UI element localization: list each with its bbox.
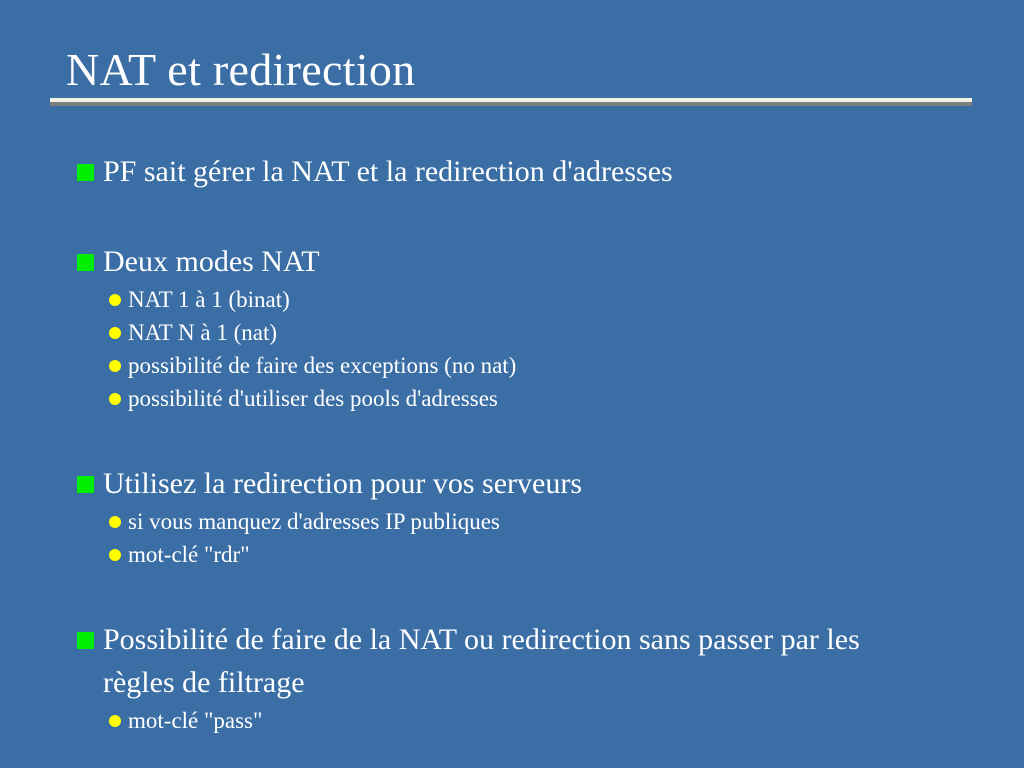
outline-spacer bbox=[58, 193, 988, 240]
list-item-level2-label: possibilité d'utiliser des pools d'adres… bbox=[128, 382, 498, 415]
list-item-level2-label: possibilité de faire des exceptions (no … bbox=[128, 349, 516, 382]
list-item-level2: NAT 1 à 1 (binat) bbox=[58, 283, 988, 316]
list-item-level2-label: NAT 1 à 1 (binat) bbox=[128, 283, 290, 316]
list-item-level1-label: Utilisez la redirection pour vos serveur… bbox=[103, 462, 582, 505]
list-item-level1-label: Possibilité de faire de la NAT ou redire… bbox=[103, 618, 903, 704]
list-item-level2-label: si vous manquez d'adresses IP publiques bbox=[128, 505, 500, 538]
list-item-level2-label: NAT N à 1 (nat) bbox=[128, 316, 277, 349]
slide-outline-body: PF sait gérer la NAT et la redirection d… bbox=[58, 150, 988, 737]
list-item-level2: possibilité d'utiliser des pools d'adres… bbox=[58, 382, 988, 415]
list-item-level1: PF sait gérer la NAT et la redirection d… bbox=[58, 150, 988, 193]
list-item-level1: Possibilité de faire de la NAT ou redire… bbox=[58, 618, 988, 704]
list-item-level1-label: PF sait gérer la NAT et la redirection d… bbox=[103, 150, 673, 193]
green-square-bullet-icon bbox=[77, 164, 94, 181]
list-item-level2: mot-clé "rdr" bbox=[58, 538, 988, 571]
list-item-level2-label: mot-clé "rdr" bbox=[128, 538, 250, 571]
outline-group: Utilisez la redirection pour vos serveur… bbox=[58, 462, 988, 571]
outline-group: PF sait gérer la NAT et la redirection d… bbox=[58, 150, 988, 193]
slide-title-block: NAT et redirection bbox=[50, 44, 974, 106]
list-item-level2: NAT N à 1 (nat) bbox=[58, 316, 988, 349]
yellow-dot-bullet-icon bbox=[109, 715, 121, 727]
list-item-level2: si vous manquez d'adresses IP publiques bbox=[58, 505, 988, 538]
list-item-level2-label: mot-clé "pass" bbox=[128, 704, 262, 737]
green-square-bullet-icon bbox=[77, 254, 94, 271]
green-square-bullet-icon bbox=[77, 632, 94, 649]
page-title: NAT et redirection bbox=[50, 44, 974, 96]
list-item-level1: Deux modes NAT bbox=[58, 240, 988, 283]
outline-spacer bbox=[58, 415, 988, 462]
yellow-dot-bullet-icon bbox=[109, 327, 121, 339]
green-square-bullet-icon bbox=[77, 476, 94, 493]
outline-group: Possibilité de faire de la NAT ou redire… bbox=[58, 618, 988, 737]
yellow-dot-bullet-icon bbox=[109, 549, 121, 561]
outline-group: Deux modes NAT NAT 1 à 1 (binat) NAT N à… bbox=[58, 240, 988, 415]
title-underline-rule bbox=[50, 98, 972, 106]
outline-spacer bbox=[58, 571, 988, 618]
yellow-dot-bullet-icon bbox=[109, 294, 121, 306]
yellow-dot-bullet-icon bbox=[109, 393, 121, 405]
list-item-level2: mot-clé "pass" bbox=[58, 704, 988, 737]
list-item-level1-label: Deux modes NAT bbox=[103, 240, 320, 283]
yellow-dot-bullet-icon bbox=[109, 360, 121, 372]
title-rule-shadow-line bbox=[50, 102, 972, 106]
list-item-level1: Utilisez la redirection pour vos serveur… bbox=[58, 462, 988, 505]
presentation-slide: NAT et redirection PF sait gérer la NAT … bbox=[0, 0, 1024, 768]
list-item-level2: possibilité de faire des exceptions (no … bbox=[58, 349, 988, 382]
yellow-dot-bullet-icon bbox=[109, 516, 121, 528]
